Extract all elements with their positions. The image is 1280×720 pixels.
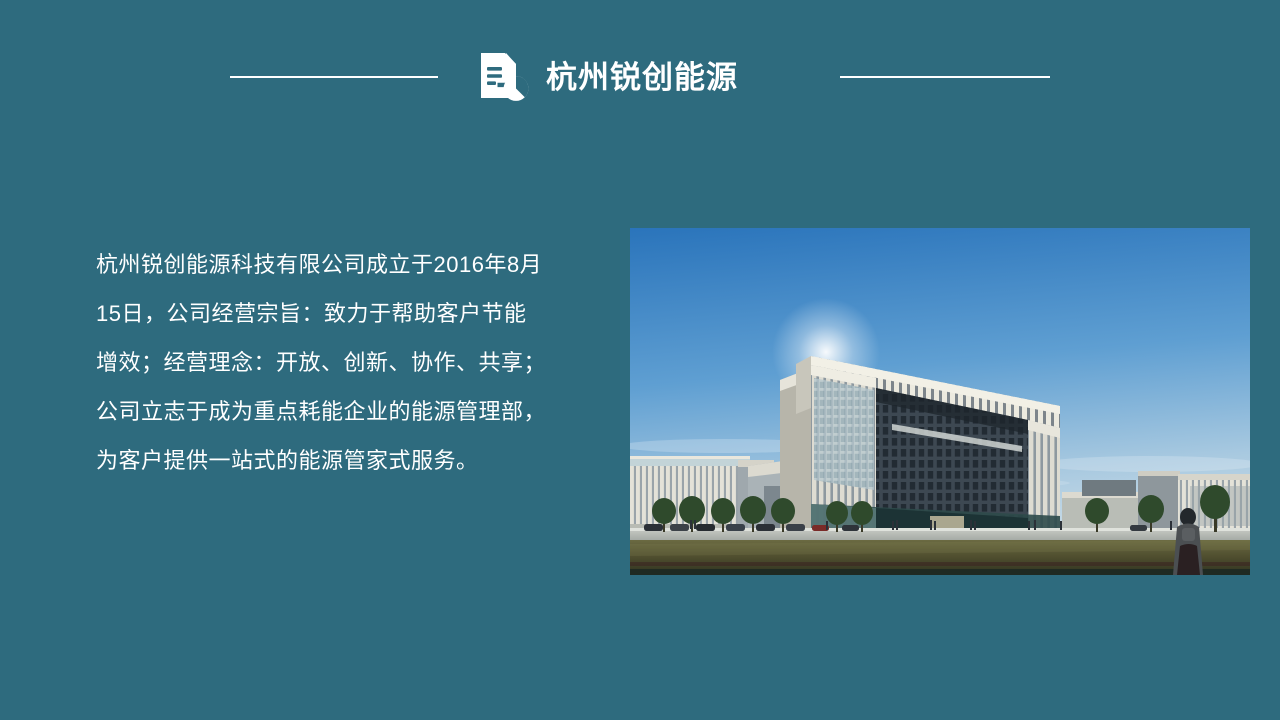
building-photo xyxy=(630,228,1250,575)
document-chart-icon xyxy=(476,50,530,104)
building-rendering xyxy=(630,228,1250,575)
slide: 杭州锐创能源 杭州锐创能源科技有限公司成立于2016年8月 15日，公司经营宗旨… xyxy=(0,0,1280,720)
slide-header: 杭州锐创能源 xyxy=(0,46,1280,108)
brand-title: 杭州锐创能源 xyxy=(546,62,738,93)
description-line: 杭州锐创能源科技有限公司成立于2016年8月 xyxy=(96,240,596,289)
description-line: 15日，公司经营宗旨：致力于帮助客户节能 xyxy=(96,289,596,338)
description-line: 增效；经营理念：开放、创新、协作、共享； xyxy=(96,338,596,387)
description-line: 为客户提供一站式的能源管家式服务。 xyxy=(96,436,596,485)
description-line: 公司立志于成为重点耗能企业的能源管理部， xyxy=(96,387,596,436)
brand: 杭州锐创能源 xyxy=(476,50,738,104)
header-rule-left xyxy=(230,76,438,78)
header-rule-right xyxy=(840,76,1050,78)
company-description: 杭州锐创能源科技有限公司成立于2016年8月 15日，公司经营宗旨：致力于帮助客… xyxy=(96,240,596,485)
